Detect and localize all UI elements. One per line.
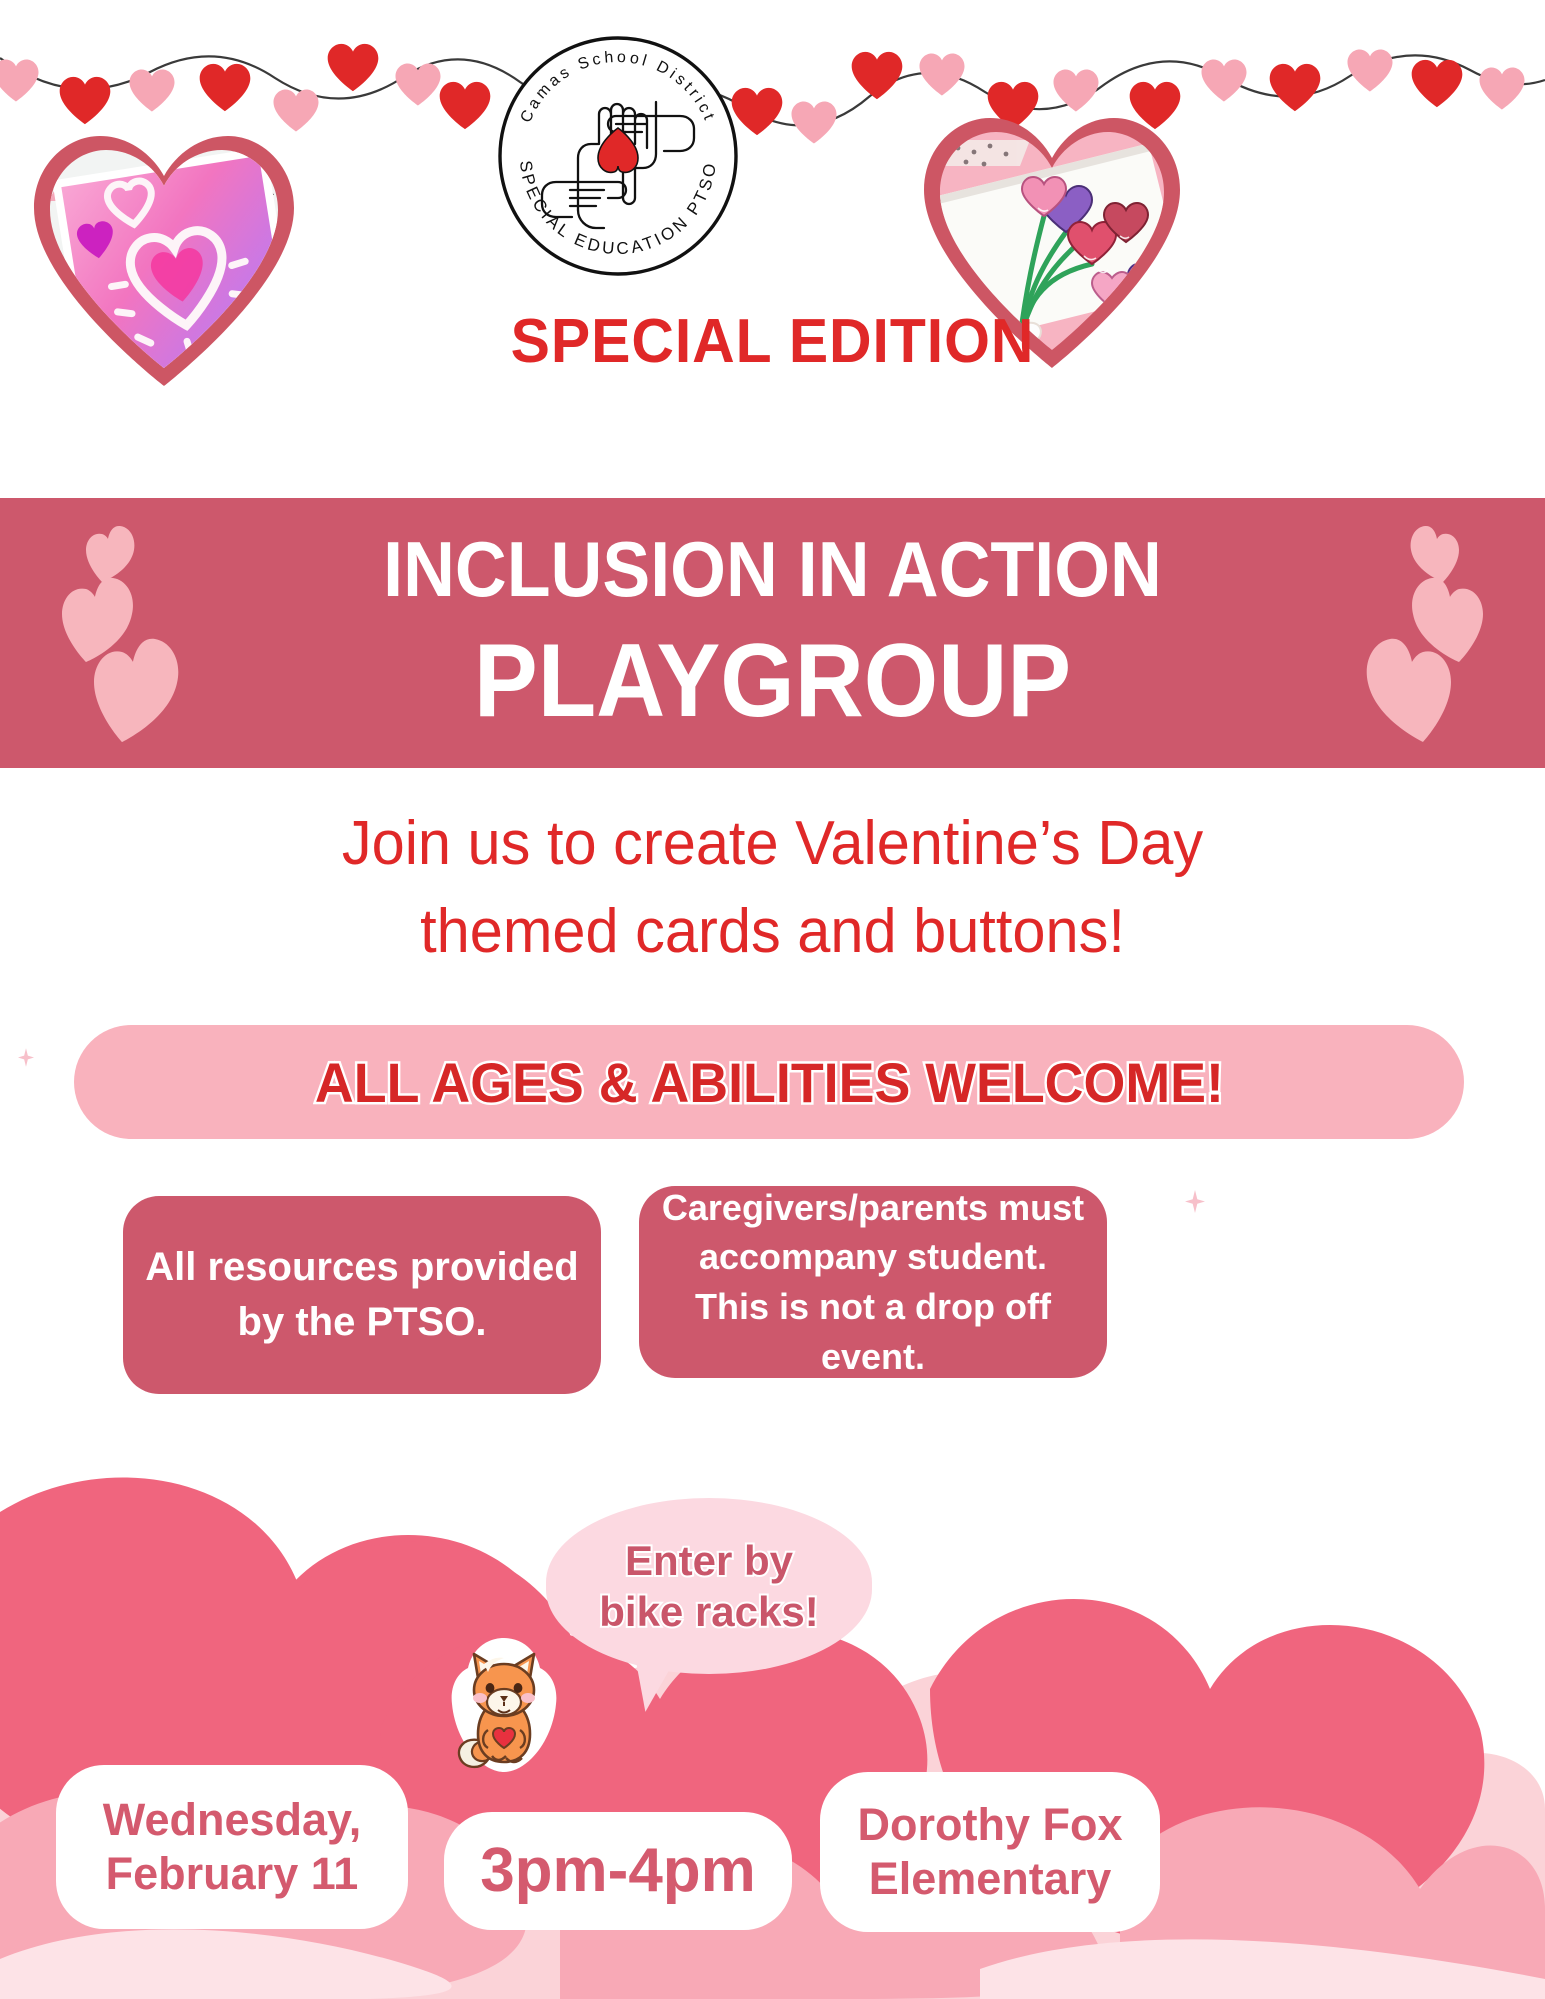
valentines-playgroup-flyer: Camas School District SPECIAL EDUCATION … bbox=[0, 0, 1545, 1999]
sparkle-icon bbox=[95, 1245, 121, 1275]
sparkle-icon bbox=[1185, 1190, 1205, 1213]
all-ages-welcome-text: ALL AGES & ABILITIES WELCOME! bbox=[315, 1050, 1224, 1115]
main-title-banner: INCLUSION IN ACTION PLAYGROUP bbox=[0, 498, 1545, 768]
sparkle-icon bbox=[18, 1048, 34, 1067]
banner-title-line2: PLAYGROUP bbox=[62, 622, 1483, 741]
event-location-card: Dorothy Fox Elementary bbox=[820, 1772, 1160, 1932]
speech-bubble: Enter by bike racks! bbox=[546, 1498, 872, 1674]
subtitle-line2: themed cards and buttons! bbox=[31, 888, 1514, 976]
caregiver-note-text: Caregivers/parents must accompany studen… bbox=[661, 1183, 1085, 1382]
camas-sped-ptso-logo: Camas School District SPECIAL EDUCATION … bbox=[494, 32, 742, 280]
event-location-line1: Dorothy Fox bbox=[858, 1798, 1123, 1852]
caregiver-note-box: Caregivers/parents must accompany studen… bbox=[639, 1186, 1107, 1378]
event-date-line2: February 11 bbox=[103, 1847, 361, 1901]
speech-bubble-line2: bike racks! bbox=[599, 1586, 818, 1637]
subtitle-line1: Join us to create Valentine’s Day bbox=[31, 800, 1514, 888]
sparkle-icon bbox=[1375, 1520, 1397, 1546]
event-time-text: 3pm-4pm bbox=[480, 1834, 756, 1908]
event-date-card: Wednesday, February 11 bbox=[56, 1765, 408, 1929]
resources-note-text: All resources provided by the PTSO. bbox=[145, 1240, 579, 1350]
fox-sticker-holding-heart bbox=[448, 1630, 560, 1778]
banner-title-line1: INCLUSION IN ACTION bbox=[62, 524, 1483, 615]
event-time-card: 3pm-4pm bbox=[444, 1812, 792, 1930]
speech-bubble-line1: Enter by bbox=[599, 1535, 818, 1586]
event-location-line2: Elementary bbox=[858, 1852, 1123, 1906]
eyebrow-special-edition: SPECIAL EDITION bbox=[39, 306, 1507, 377]
event-date-line1: Wednesday, bbox=[103, 1793, 361, 1847]
speech-bubble-text: Enter by bike racks! bbox=[599, 1535, 818, 1637]
subtitle: Join us to create Valentine’s Day themed… bbox=[31, 800, 1514, 976]
resources-note-box: All resources provided by the PTSO. bbox=[123, 1196, 601, 1394]
all-ages-welcome-pill: ALL AGES & ABILITIES WELCOME! bbox=[74, 1025, 1464, 1139]
